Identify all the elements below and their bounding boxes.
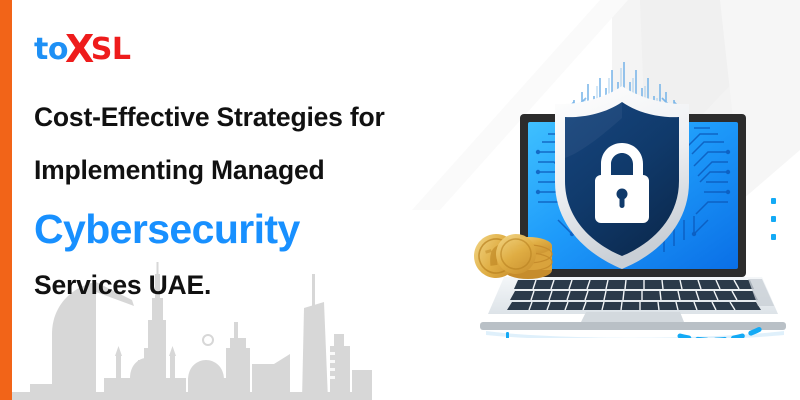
headline-block: Cost-Effective Strategies for Implementi… bbox=[34, 104, 504, 299]
keyboard-key-separators bbox=[529, 280, 739, 310]
laptop-trackpad bbox=[581, 312, 684, 322]
headline-line-2: Implementing Managed bbox=[34, 157, 504, 184]
headline-line-1: Cost-Effective Strategies for bbox=[34, 104, 504, 131]
security-shield bbox=[555, 86, 689, 269]
left-accent-bar bbox=[0, 0, 12, 400]
laptop-shadow bbox=[486, 331, 784, 338]
laptop-keyboard-deck bbox=[488, 277, 778, 314]
laptop-keyboard-keys bbox=[507, 280, 761, 310]
edge-dot-2 bbox=[771, 216, 776, 222]
cybersecurity-laptop-illustration bbox=[462, 48, 800, 338]
laptop-base-edge bbox=[480, 322, 786, 330]
logo-text-to: to bbox=[34, 32, 68, 67]
edge-dots-decoration bbox=[771, 198, 781, 242]
small-tick-decoration bbox=[506, 332, 509, 338]
headline-line-4: Services UAE. bbox=[34, 272, 504, 299]
banner-root: toXSL bbox=[0, 0, 800, 400]
logo-text-x: X bbox=[65, 27, 94, 71]
edge-dot-3 bbox=[771, 234, 776, 240]
logo-text-sl: SL bbox=[91, 32, 131, 67]
padlock-icon bbox=[595, 143, 649, 223]
brand-logo[interactable]: toXSL bbox=[34, 27, 131, 65]
laptop-screen bbox=[528, 122, 738, 269]
circuit-spray-top bbox=[560, 62, 688, 118]
headline-accent-line: Cybersecurity bbox=[34, 209, 504, 250]
dashed-arc-decoration bbox=[680, 328, 762, 338]
laptop-bezel bbox=[520, 114, 746, 277]
screen-circuit-pattern bbox=[536, 128, 730, 252]
edge-dot-1 bbox=[771, 198, 776, 204]
